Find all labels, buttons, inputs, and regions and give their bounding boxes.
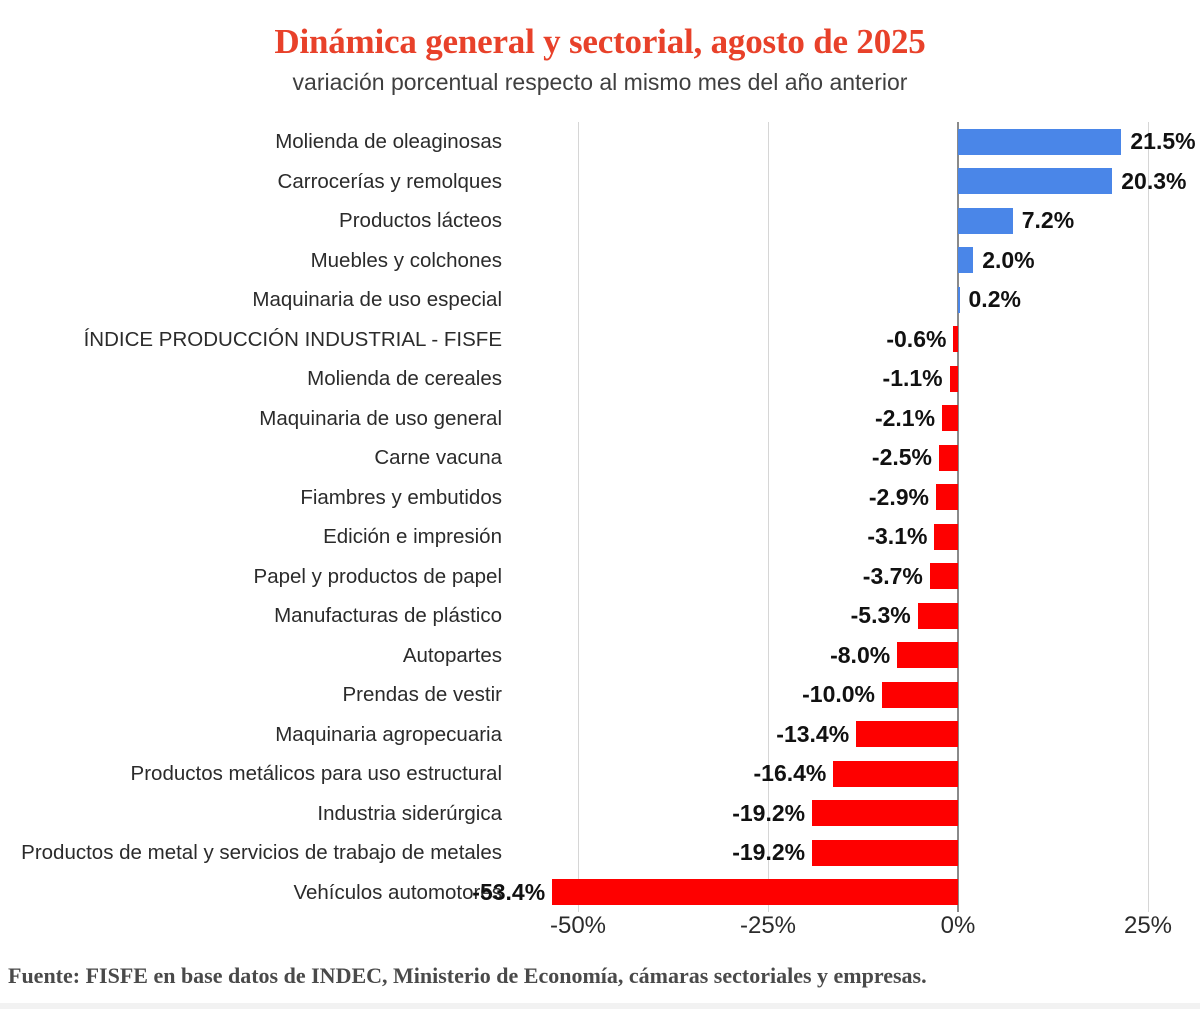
value-label: -3.1% [867, 517, 927, 557]
bar-row: Muebles y colchones2.0% [0, 241, 1200, 281]
category-label: Molienda de oleaginosas [0, 122, 502, 162]
category-label: Fiambres y embutidos [0, 478, 502, 518]
bar-row: Productos lácteos7.2% [0, 201, 1200, 241]
category-label: Carrocerías y remolques [0, 162, 502, 202]
value-label: 20.3% [1121, 162, 1186, 202]
bar [958, 168, 1112, 194]
category-label: Muebles y colchones [0, 241, 502, 281]
bar-row: Papel y productos de papel-3.7% [0, 557, 1200, 597]
bar [958, 129, 1121, 155]
category-label: ÍNDICE PRODUCCIÓN INDUSTRIAL - FISFE [0, 320, 502, 360]
x-tick-label: 0% [941, 912, 976, 940]
bar-row: Vehículos automotores-53.4% [0, 873, 1200, 913]
category-label: Vehículos automotores [0, 873, 502, 913]
source-note: Fuente: FISFE en base datos de INDEC, Mi… [8, 963, 1198, 989]
bar [812, 840, 958, 866]
bar [812, 800, 958, 826]
x-tick-label: -25% [740, 912, 796, 940]
bar-row: Fiambres y embutidos-2.9% [0, 478, 1200, 518]
bar [953, 326, 958, 352]
value-label: -0.6% [886, 320, 946, 360]
bar-rows: Molienda de oleaginosas21.5%Carrocerías … [0, 122, 1200, 912]
category-label: Productos lácteos [0, 201, 502, 241]
value-label: -19.2% [732, 833, 805, 873]
bar [936, 484, 958, 510]
bar-row: Molienda de cereales-1.1% [0, 359, 1200, 399]
bar [833, 761, 958, 787]
bar [958, 287, 960, 313]
value-label: -2.1% [875, 399, 935, 439]
x-axis: -50%-25%0%25% [0, 912, 1200, 956]
bar-row: Maquinaria de uso general-2.1% [0, 399, 1200, 439]
category-label: Productos de metal y servicios de trabaj… [0, 833, 502, 873]
bar-row: Edición e impresión-3.1% [0, 517, 1200, 557]
value-label: -2.5% [872, 438, 932, 478]
bar [942, 405, 958, 431]
bar [950, 366, 958, 392]
x-tick-label: -50% [550, 912, 606, 940]
category-label: Carne vacuna [0, 438, 502, 478]
chart-container: Dinámica general y sectorial, agosto de … [0, 0, 1200, 1009]
bottom-edge [0, 1003, 1200, 1009]
value-label: -53.4% [472, 873, 545, 913]
value-label: -8.0% [830, 636, 890, 676]
bar [958, 247, 973, 273]
bar [882, 682, 958, 708]
chart-title: Dinámica general y sectorial, agosto de … [0, 0, 1200, 61]
bar-row: Prendas de vestir-10.0% [0, 675, 1200, 715]
bar-row: Manufacturas de plástico-5.3% [0, 596, 1200, 636]
value-label: 7.2% [1022, 201, 1074, 241]
chart-subtitle: variación porcentual respecto al mismo m… [0, 61, 1200, 95]
category-label: Edición e impresión [0, 517, 502, 557]
bar [897, 642, 958, 668]
category-label: Prendas de vestir [0, 675, 502, 715]
bar [934, 524, 958, 550]
bar [918, 603, 958, 629]
bar-row: Carrocerías y remolques20.3% [0, 162, 1200, 202]
category-label: Maquinaria de uso general [0, 399, 502, 439]
bar [930, 563, 958, 589]
category-label: Manufacturas de plástico [0, 596, 502, 636]
category-label: Productos metálicos para uso estructural [0, 754, 502, 794]
category-label: Papel y productos de papel [0, 557, 502, 597]
bar-row: Maquinaria agropecuaria-13.4% [0, 715, 1200, 755]
value-label: -1.1% [883, 359, 943, 399]
value-label: -13.4% [776, 715, 849, 755]
value-label: 2.0% [982, 241, 1034, 281]
value-label: -19.2% [732, 794, 805, 834]
bar-row: Carne vacuna-2.5% [0, 438, 1200, 478]
chart-header: Dinámica general y sectorial, agosto de … [0, 0, 1200, 95]
value-label: -16.4% [754, 754, 827, 794]
value-label: -10.0% [802, 675, 875, 715]
value-label: -3.7% [863, 557, 923, 597]
category-label: Maquinaria de uso especial [0, 280, 502, 320]
bar-row: ÍNDICE PRODUCCIÓN INDUSTRIAL - FISFE-0.6… [0, 320, 1200, 360]
value-label: 0.2% [969, 280, 1021, 320]
x-tick-label: 25% [1124, 912, 1172, 940]
category-label: Industria siderúrgica [0, 794, 502, 834]
footer-divider [0, 958, 1200, 959]
bar [939, 445, 958, 471]
bar-row: Autopartes-8.0% [0, 636, 1200, 676]
value-label: 21.5% [1130, 122, 1195, 162]
bar-row: Industria siderúrgica-19.2% [0, 794, 1200, 834]
bar [856, 721, 958, 747]
bar-row: Productos metálicos para uso estructural… [0, 754, 1200, 794]
value-label: -2.9% [869, 478, 929, 518]
bar [958, 208, 1013, 234]
bar-row: Productos de metal y servicios de trabaj… [0, 833, 1200, 873]
bar-row: Maquinaria de uso especial0.2% [0, 280, 1200, 320]
value-label: -5.3% [851, 596, 911, 636]
bar-row: Molienda de oleaginosas21.5% [0, 122, 1200, 162]
plot-area: Molienda de oleaginosas21.5%Carrocerías … [0, 122, 1200, 912]
bar [552, 879, 958, 905]
category-label: Maquinaria agropecuaria [0, 715, 502, 755]
category-label: Autopartes [0, 636, 502, 676]
category-label: Molienda de cereales [0, 359, 502, 399]
